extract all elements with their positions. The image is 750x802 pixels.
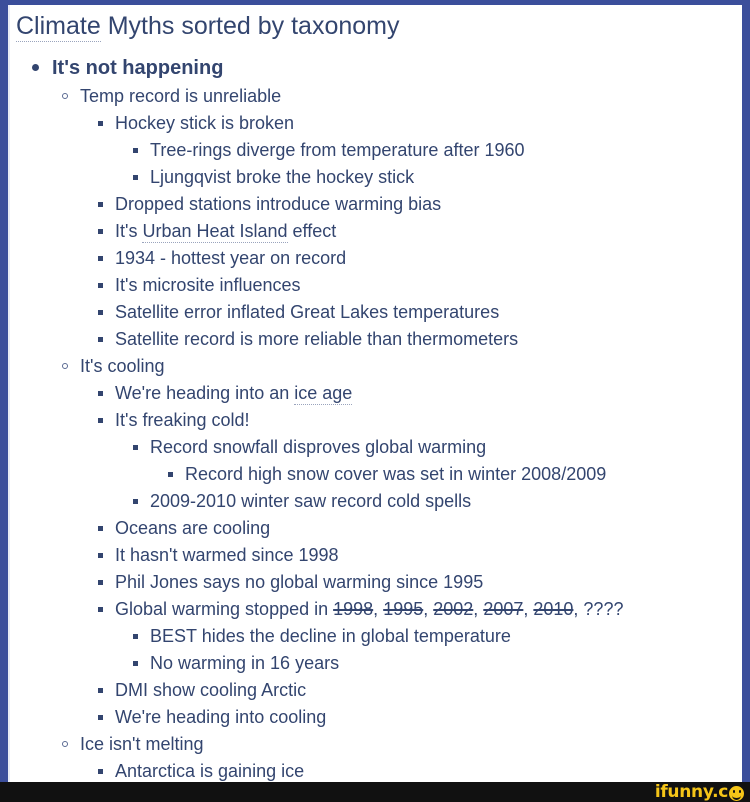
outline-item: Dropped stations introduce warming bias (10, 191, 742, 218)
outline-item-label-struck-segment: 1998 (333, 599, 373, 619)
outline-item: BEST hides the decline in global tempera… (10, 623, 742, 650)
outline-item-label: Satellite record is more reliable than t… (115, 326, 518, 353)
outline-item: It's freaking cold! (10, 407, 742, 434)
outline-item: 2009-2010 winter saw record cold spells (10, 488, 742, 515)
outline-item-row: Ljungqvist broke the hockey stick (10, 164, 742, 191)
outline-item: Record snowfall disproves global warming (10, 434, 742, 461)
outline-item-row: Global warming stopped in 1998, 1995, 20… (10, 596, 742, 623)
outline-item-row: Temp record is unreliable (10, 83, 742, 110)
outline-item-row: It hasn't warmed since 1998 (10, 542, 742, 569)
page-title-segment: Myths sorted by taxonomy (101, 12, 400, 40)
outline-item-label: We're heading into cooling (115, 704, 326, 731)
outline-item-row: We're heading into an ice age (10, 380, 742, 407)
outline-item-row: It's Urban Heat Island effect (10, 218, 742, 245)
outline-item: Antarctica is gaining ice (10, 758, 742, 782)
outline-item: It's not happening (10, 54, 742, 83)
outline-item: Ljungqvist broke the hockey stick (10, 164, 742, 191)
outline-item-label: It's not happening (52, 54, 223, 83)
page-title: Climate Myths sorted by taxonomy (16, 11, 742, 42)
outline-item-label-segment: , (423, 599, 433, 619)
outline-item-label: No warming in 16 years (150, 650, 339, 677)
outline-item-label-segment: , (373, 599, 383, 619)
frame-border-left (0, 0, 8, 786)
outline-item-label-struck-segment: 2007 (483, 599, 523, 619)
outline-item-row: BEST hides the decline in global tempera… (10, 623, 742, 650)
outline-item-row: 1934 - hottest year on record (10, 245, 742, 272)
outline-item-row: It's cooling (10, 353, 742, 380)
outline-item-label: It's cooling (80, 353, 164, 380)
outline-item-label: DMI show cooling Arctic (115, 677, 306, 704)
outline-item-row: No warming in 16 years (10, 650, 742, 677)
outline-item: Ice isn't melting (10, 731, 742, 758)
outline-item: DMI show cooling Arctic (10, 677, 742, 704)
outline-item: 1934 - hottest year on record (10, 245, 742, 272)
outline-item-label: Tree-rings diverge from temperature afte… (150, 137, 525, 164)
ifunny-watermark-text: ifunny.c (655, 784, 728, 801)
ifunny-watermark[interactable]: ifunny.c (655, 784, 750, 801)
outline-item-label: BEST hides the decline in global tempera… (150, 623, 511, 650)
outline-item-label-segment: We're heading into an (115, 383, 294, 403)
outline-item-row: It's freaking cold! (10, 407, 742, 434)
outline-item-label: Record high snow cover was set in winter… (185, 461, 606, 488)
outline-item: Oceans are cooling (10, 515, 742, 542)
outline-item-label: Record snowfall disproves global warming (150, 434, 486, 461)
outline-item-row: We're heading into cooling (10, 704, 742, 731)
outline-item-row: Record snowfall disproves global warming (10, 434, 742, 461)
frame-border-top (0, 0, 750, 5)
outline-item-label-struck-segment: 2010 (533, 599, 573, 619)
outline-item-row: Record high snow cover was set in winter… (10, 461, 742, 488)
outline-item: Global warming stopped in 1998, 1995, 20… (10, 596, 742, 623)
outline-item-label: Ljungqvist broke the hockey stick (150, 164, 414, 191)
outline-item-row: It's microsite influences (10, 272, 742, 299)
outline-item: Satellite record is more reliable than t… (10, 326, 742, 353)
outline-item-label: 1934 - hottest year on record (115, 245, 346, 272)
outline-item: Tree-rings diverge from temperature afte… (10, 137, 742, 164)
screenshot-root: Climate Myths sorted by taxonomy It's no… (0, 0, 750, 802)
outline-item-label: Antarctica is gaining ice (115, 758, 304, 782)
outline-item-label: Oceans are cooling (115, 515, 270, 542)
outline-item-row: DMI show cooling Arctic (10, 677, 742, 704)
outline-item-label-segment: , (523, 599, 533, 619)
frame-border-right (742, 0, 750, 782)
outline-item: It's cooling (10, 353, 742, 380)
outline-item: It hasn't warmed since 1998 (10, 542, 742, 569)
outline-item-label: We're heading into an ice age (115, 380, 352, 407)
outline-item-label-segment: It's (115, 221, 142, 241)
outline-item-row: Satellite error inflated Great Lakes tem… (10, 299, 742, 326)
outline-item-row: Phil Jones says no global warming since … (10, 569, 742, 596)
outline-item-row: Hockey stick is broken (10, 110, 742, 137)
outline-item: Satellite error inflated Great Lakes tem… (10, 299, 742, 326)
outline-item: It's Urban Heat Island effect (10, 218, 742, 245)
frame-border-left-inner (8, 0, 10, 786)
outline-item: Phil Jones says no global warming since … (10, 569, 742, 596)
outline-item-row: It's not happening (10, 54, 742, 83)
outline-item: Temp record is unreliable (10, 83, 742, 110)
outline-item: Hockey stick is broken (10, 110, 742, 137)
outline-item-label: Satellite error inflated Great Lakes tem… (115, 299, 499, 326)
outline-item-label: It's microsite influences (115, 272, 301, 299)
outline-item: It's microsite influences (10, 272, 742, 299)
outline-item-row: Dropped stations introduce warming bias (10, 191, 742, 218)
smiley-face-icon (729, 786, 744, 801)
outline-item: We're heading into cooling (10, 704, 742, 731)
page-title-dotted-segment: Climate (16, 12, 101, 42)
outline-item-label-segment: Global warming stopped in (115, 599, 333, 619)
outline-item-label-dotted-segment: ice age (294, 383, 352, 405)
outline-item-label: 2009-2010 winter saw record cold spells (150, 488, 471, 515)
outline-item-row: Satellite record is more reliable than t… (10, 326, 742, 353)
outline-item-row: Oceans are cooling (10, 515, 742, 542)
outline-item: We're heading into an ice age (10, 380, 742, 407)
outline-item-label: Phil Jones says no global warming since … (115, 569, 483, 596)
outline-item-label: It hasn't warmed since 1998 (115, 542, 339, 569)
outline-item-label-segment: , (473, 599, 483, 619)
outline-item-label-struck-segment: 2002 (433, 599, 473, 619)
myth-taxonomy-outline: It's not happeningTemp record is unrelia… (10, 54, 742, 782)
document-page: Climate Myths sorted by taxonomy It's no… (10, 5, 742, 782)
outline-item-label-segment: effect (288, 221, 337, 241)
outline-item-label: Global warming stopped in 1998, 1995, 20… (115, 596, 623, 623)
outline-item-label: Dropped stations introduce warming bias (115, 191, 441, 218)
ifunny-watermark-bar: ifunny.c (0, 782, 750, 802)
outline-item-row: Antarctica is gaining ice (10, 758, 742, 782)
outline-item-row: 2009-2010 winter saw record cold spells (10, 488, 742, 515)
outline-item-label: Temp record is unreliable (80, 83, 281, 110)
outline-item: No warming in 16 years (10, 650, 742, 677)
outline-item-row: Ice isn't melting (10, 731, 742, 758)
outline-item-label: Hockey stick is broken (115, 110, 294, 137)
outline-item-label-struck-segment: 1995 (383, 599, 423, 619)
outline-item-label: It's freaking cold! (115, 407, 250, 434)
outline-item-label-segment: , ???? (573, 599, 623, 619)
outline-item-label: It's Urban Heat Island effect (115, 218, 336, 245)
outline-item-label-dotted-segment: Urban Heat Island (142, 221, 287, 243)
outline-item: Record high snow cover was set in winter… (10, 461, 742, 488)
outline-item-label: Ice isn't melting (80, 731, 204, 758)
outline-item-row: Tree-rings diverge from temperature afte… (10, 137, 742, 164)
